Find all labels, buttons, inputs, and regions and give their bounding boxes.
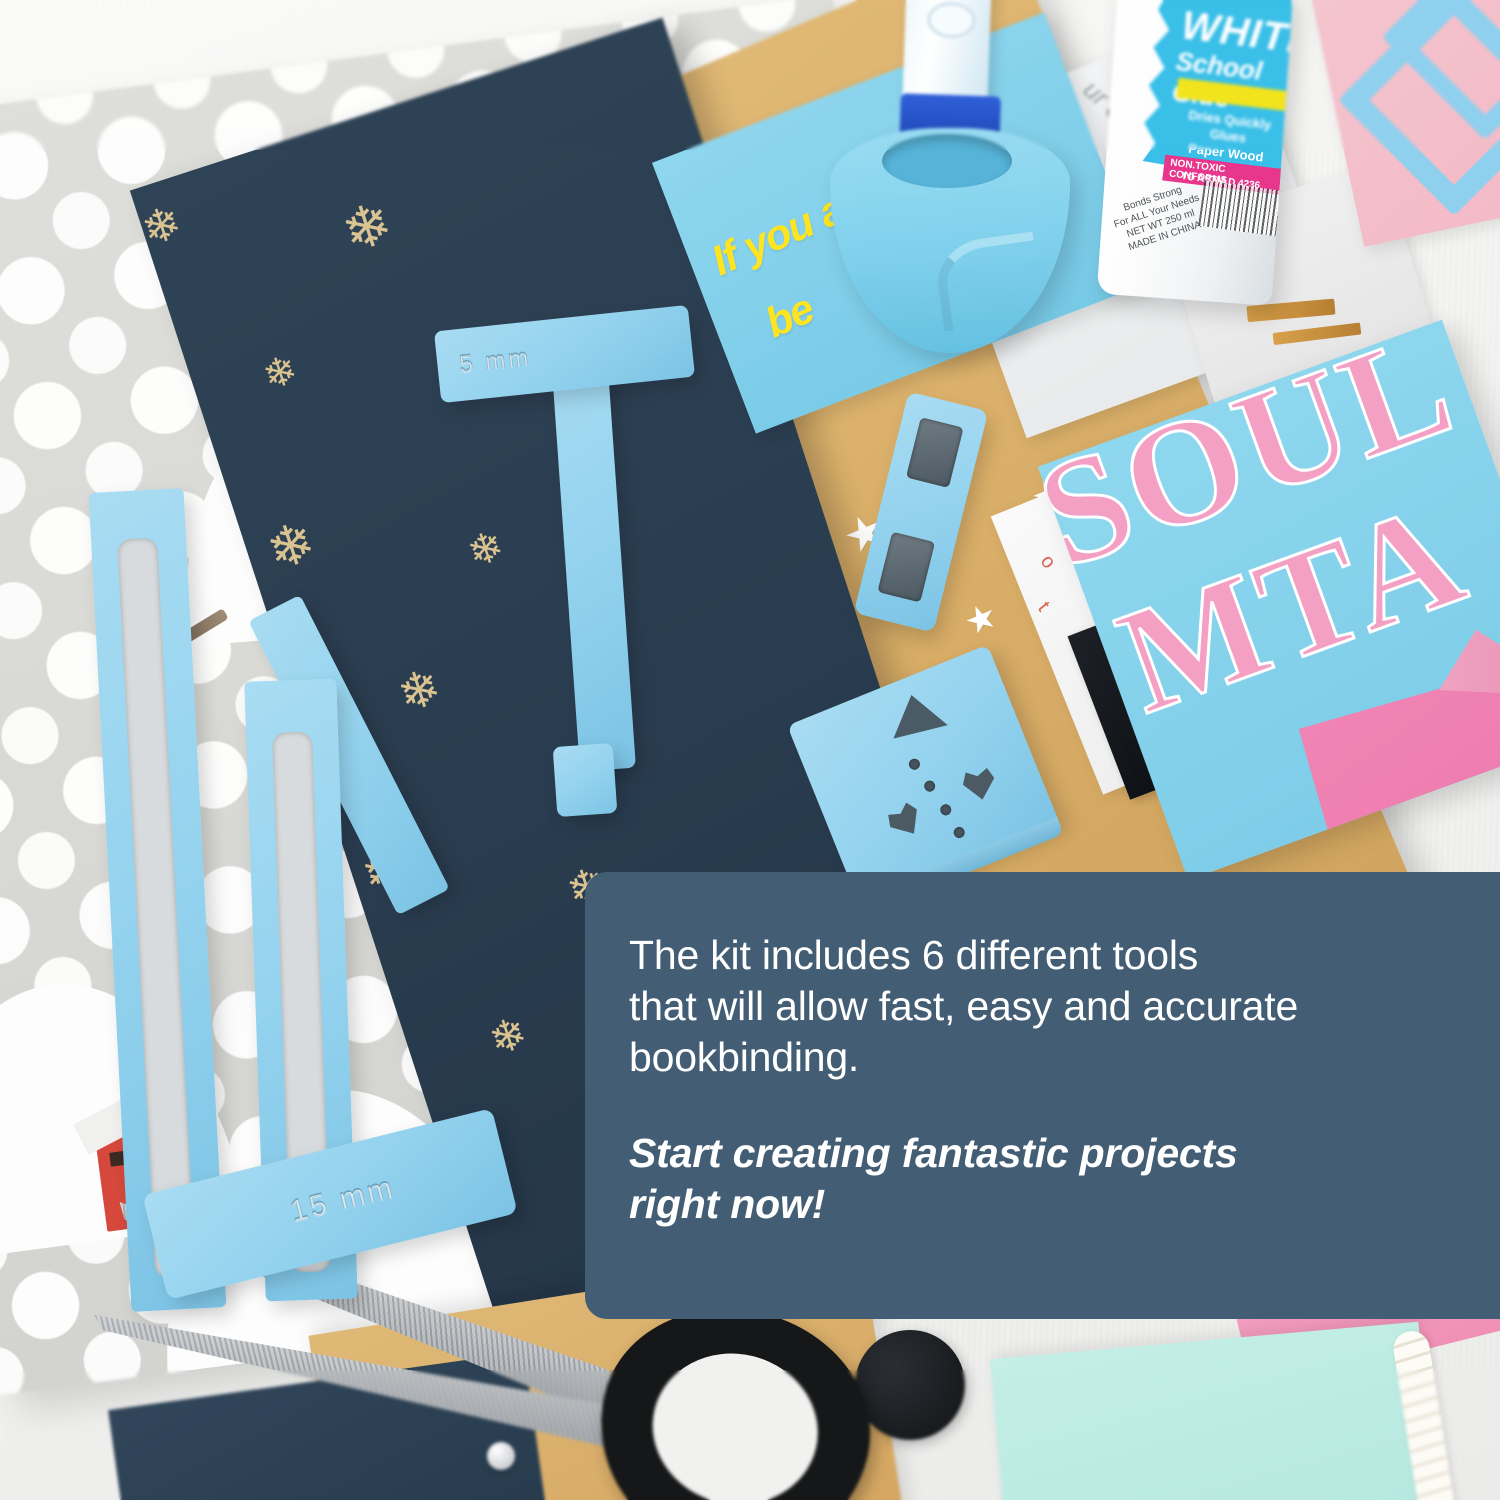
depth-of-field-top [0, 0, 1500, 150]
glue-fine-print: Bonds Strong For ALL Your Needs NET WT 2… [1108, 179, 1209, 256]
t-tool-size-label: 5 mm [458, 344, 533, 379]
ruler-slot [117, 538, 196, 1279]
barcode [1198, 180, 1284, 237]
pencil-illustration [1273, 322, 1362, 345]
side-card-text: o [1035, 551, 1060, 574]
star-shape: ★ [959, 596, 1003, 642]
ruler-size-label: 15 mm [287, 1170, 399, 1229]
template-window [877, 532, 935, 603]
blue-card-line2: be [758, 284, 820, 347]
side-card-text: t [1032, 598, 1054, 617]
template-window [906, 417, 964, 488]
caption-panel: The kit includes 6 different tools that … [585, 872, 1500, 1319]
depth-of-field-bottom [0, 1370, 1500, 1500]
heart-cutout [961, 767, 999, 803]
punch-hole [952, 825, 966, 839]
heart-cutout [884, 800, 927, 843]
caption-body-text: The kit includes 6 different tools that … [629, 930, 1440, 1082]
product-photo-stage: ★ ★ ★ ★ ★ ★ ★ ★ ★ ★ ★ ★ ❄ ❄ ❄ ❄ ❄ ❄ ❄ ❄ … [0, 0, 1500, 1500]
holder-groove [932, 231, 1044, 331]
punch-hole [939, 803, 953, 817]
triangle-cutout [884, 688, 948, 738]
caption-cta-text: Start creating fantastic projects right … [629, 1128, 1440, 1228]
bookbinding-t-tool-tip [553, 743, 618, 817]
punch-hole [923, 779, 937, 793]
punch-hole [907, 757, 921, 771]
